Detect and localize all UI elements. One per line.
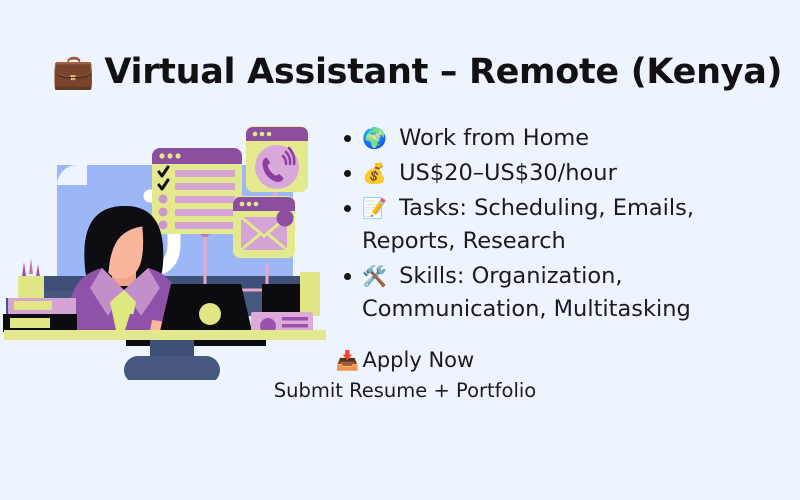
bullet-dot-icon [344, 273, 351, 280]
list-item-label: Work from Home [399, 125, 589, 151]
globe-europe-africa-emoji: 🌍 [362, 126, 387, 150]
list-item-label: US$20–US$30/hour [399, 160, 617, 186]
list-item-label: Skills: Organization, Communication, Mul… [362, 263, 691, 322]
briefcase-emoji: 💼 [52, 55, 94, 89]
phone-call-card [246, 126, 308, 192]
bullet-dot-icon [344, 135, 351, 142]
apply-now-label: Apply Now [362, 348, 474, 372]
checklist-card [152, 148, 242, 234]
hammer-and-wrench-emoji: 🛠️ [362, 264, 387, 288]
page-title-text: Virtual Assistant – Remote (Kenya) [104, 52, 782, 92]
list-item: 📝 Tasks: Scheduling, Emails, Reports, Re… [340, 192, 770, 258]
submit-instructions: Submit Resume + Portfolio [240, 376, 570, 406]
bullet-dot-icon [344, 170, 351, 177]
page-title: 💼 Virtual Assistant – Remote (Kenya) [52, 52, 782, 92]
money-bag-emoji: 💰 [362, 161, 387, 185]
virtual-assistant-illustration [0, 108, 330, 380]
list-item: 💰 US$20–US$30/hour [340, 157, 770, 190]
job-details-list: 🌍 Work from Home 💰 US$20–US$30/hour 📝 Ta… [340, 122, 770, 328]
bullet-dot-icon [344, 205, 351, 212]
list-item: 🛠️ Skills: Organization, Communication, … [340, 260, 770, 326]
apply-call-to-action: 📥Apply Now Submit Resume + Portfolio [240, 345, 570, 406]
list-item-label: Tasks: Scheduling, Emails, Reports, Rese… [362, 195, 694, 254]
inbox-tray-emoji: 📥 [336, 350, 360, 372]
memo-emoji: 📝 [362, 196, 387, 220]
job-posting-poster: 💼 Virtual Assistant – Remote (Kenya) [0, 0, 800, 500]
apply-now-line[interactable]: 📥Apply Now [240, 345, 570, 376]
list-item: 🌍 Work from Home [340, 122, 770, 155]
email-card [233, 196, 295, 258]
